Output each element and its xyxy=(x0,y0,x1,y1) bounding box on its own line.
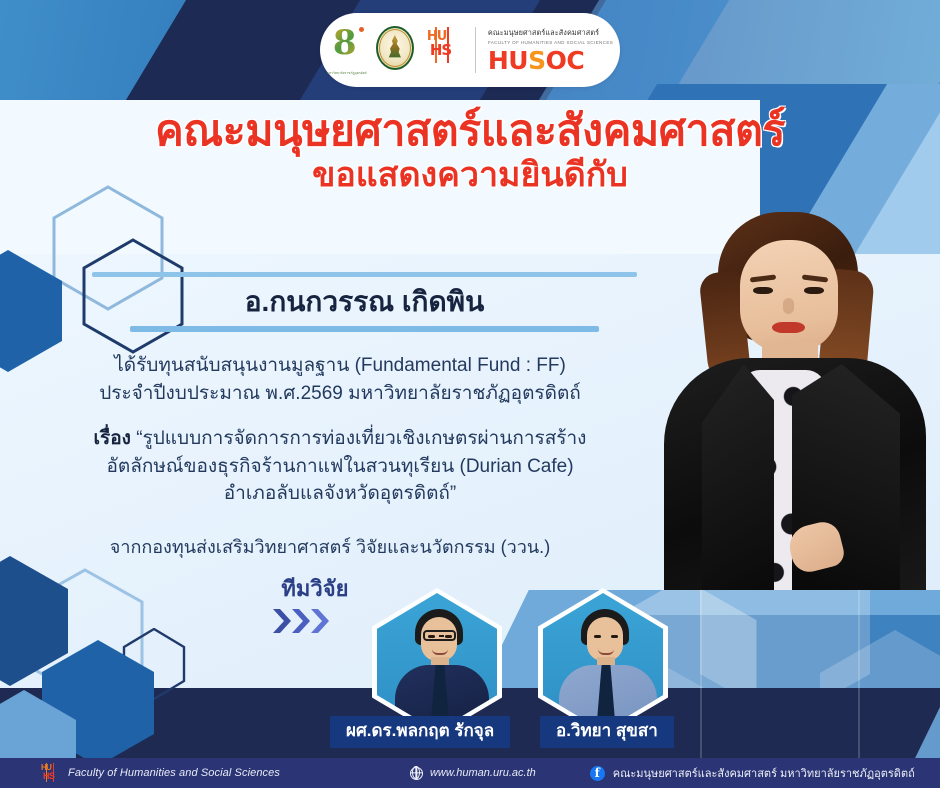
anniversary-caption: มหาวิทยาลัยราชภัฏอุตรดิตถ์ xyxy=(324,71,370,76)
team-member-nameplate-1: ผศ.ดร.พลกฤต รักจุล xyxy=(330,716,510,748)
portrait-nose xyxy=(783,298,794,314)
funding-source-text: จากกองทุนส่งเสริมวิทยาศาสตร์ วิจัยและนวั… xyxy=(20,535,640,560)
honoree-portrait-photo xyxy=(640,198,940,590)
poster-canvas: 8 มหาวิทยาลัยราชภัฏอุตรดิตถ์ HU HS คณะมน… xyxy=(0,0,940,788)
wordmark-s-flame: S xyxy=(528,46,546,75)
honoree-name: อ.กนกวรรณ เกิดพิน xyxy=(92,277,637,326)
logo-english-name: FACULTY OF HUMANITIES AND SOCIAL SCIENCE… xyxy=(488,40,613,45)
wordmark-oc: OC xyxy=(546,46,585,75)
topic-line-1: “รูปแบบการจัดการการท่องเที่ยวเชิงเกษตรผ่… xyxy=(136,428,586,449)
topic-first-line: เรื่อง “รูปแบบการจัดการการท่องเที่ยวเชิง… xyxy=(20,425,660,453)
monogram-bottom-letters: HS xyxy=(430,43,451,58)
fund-line-2: ประจำปีงบประมาณ พ.ศ.2569 มหาวิทยาลัยราชภ… xyxy=(40,380,640,408)
footer-facebook-group[interactable]: f คณะมนุษยศาสตร์และสังคมศาสตร์ มหาวิทยาล… xyxy=(590,764,915,782)
footer-website-group[interactable]: www.human.uru.ac.th xyxy=(410,767,536,780)
footer-website-url[interactable]: www.human.uru.ac.th xyxy=(430,767,536,779)
hex-photo-frame-2 xyxy=(538,588,668,736)
footer-logo-bottom-letters: HS xyxy=(43,772,54,781)
chevron-right-icon-2 xyxy=(291,608,310,634)
hex-photo-frame-1 xyxy=(372,588,502,736)
topic-label: เรื่อง xyxy=(94,428,131,449)
anniversary-8-logo-icon: 8 มหาวิทยาลัยราชภัฏอุตรดิตถ์ xyxy=(327,24,367,76)
husoc-logo-pill: 8 มหาวิทยาลัยราชภัฏอุตรดิตถ์ HU HS คณะมน… xyxy=(320,13,620,87)
logo-husoc-wordmark: HUSOC xyxy=(488,48,613,73)
logo-thai-name: คณะมนุษยศาสตร์และสังคมศาสตร์ xyxy=(488,28,613,39)
footer-bar: HU HS Faculty of Humanities and Social S… xyxy=(0,758,940,788)
wordmark-hu: HU xyxy=(488,46,528,75)
portrait-eye-right xyxy=(804,287,824,294)
topic-text-block: เรื่อง “รูปแบบการจัดการการท่องเที่ยวเชิง… xyxy=(20,425,660,508)
topic-line-3: อำเภอลับแลจังหวัดอุตรดิตถ์” xyxy=(20,480,660,508)
fund-line-1: ได้รับทุนสนับสนุนงานมูลฐาน (Fundamental … xyxy=(40,352,640,380)
headline-line-2: ขอแสดงความยินดีกับ xyxy=(0,156,940,195)
facebook-icon[interactable]: f xyxy=(590,766,605,781)
headline-line-1: คณะมนุษยศาสตร์และสังคมศาสตร์ xyxy=(0,108,940,154)
chevron-right-icon-3 xyxy=(310,608,329,634)
research-team-label: ทีมวิจัย xyxy=(255,578,375,600)
headline-block: คณะมนุษยศาสตร์และสังคมศาสตร์ ขอแสดงความย… xyxy=(0,108,940,196)
portrait-lips xyxy=(772,322,805,333)
logo-text-block: คณะมนุษยศาสตร์และสังคมศาสตร์ FACULTY OF … xyxy=(488,28,613,73)
footer-huso-logo-icon: HU HS xyxy=(38,763,60,783)
huso-monogram-icon: HU HS xyxy=(423,24,463,76)
honoree-name-block: อ.กนกวรรณ เกิดพิน xyxy=(92,272,637,332)
logo-divider xyxy=(475,27,476,73)
name-rule-bottom xyxy=(130,326,599,332)
topic-line-2: อัตลักษณ์ของธุรกิจร้านกาแฟในสวนทุเรียน (… xyxy=(20,453,660,481)
fund-text-block: ได้รับทุนสนับสนุนงานมูลฐาน (Fundamental … xyxy=(40,352,640,407)
bottom-vertical-strip-a xyxy=(700,560,702,788)
member2-eye-left xyxy=(594,635,601,638)
facebook-glyph: f xyxy=(590,766,605,781)
team-member-photo-1 xyxy=(372,588,502,736)
bottom-vertical-strip-b xyxy=(858,560,860,788)
team-member-photo-2 xyxy=(538,588,668,736)
member2-eye-right xyxy=(611,635,618,638)
globe-icon xyxy=(410,767,423,780)
chevron-right-icon-1 xyxy=(272,608,291,634)
footer-facebook-page-name[interactable]: คณะมนุษยศาสตร์และสังคมศาสตร์ มหาวิทยาลัย… xyxy=(613,764,915,782)
research-team-arrows xyxy=(272,608,329,634)
team-member-nameplate-2: อ.วิทยา สุขสา xyxy=(540,716,674,748)
member1-glasses-icon xyxy=(423,630,456,641)
university-seal-icon xyxy=(374,24,416,76)
portrait-eye-left xyxy=(753,287,773,294)
anniversary-number: 8 xyxy=(333,26,357,60)
footer-faculty-name: Faculty of Humanities and Social Science… xyxy=(68,767,280,779)
portrait-face xyxy=(740,240,838,352)
anniversary-dot-icon xyxy=(359,27,364,32)
